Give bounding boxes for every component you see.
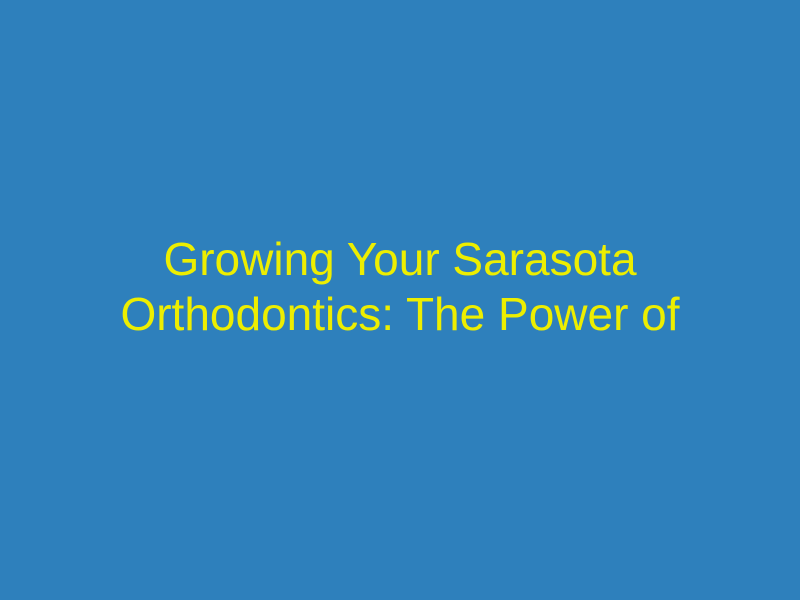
page-title: Growing Your Sarasota Orthodontics: The … [0, 232, 800, 350]
title-line-2: Orthodontics: The Power of [0, 287, 800, 342]
social-share-card: Growing Your Sarasota Orthodontics: The … [0, 0, 800, 600]
title-line-1: Growing Your Sarasota [0, 232, 800, 287]
